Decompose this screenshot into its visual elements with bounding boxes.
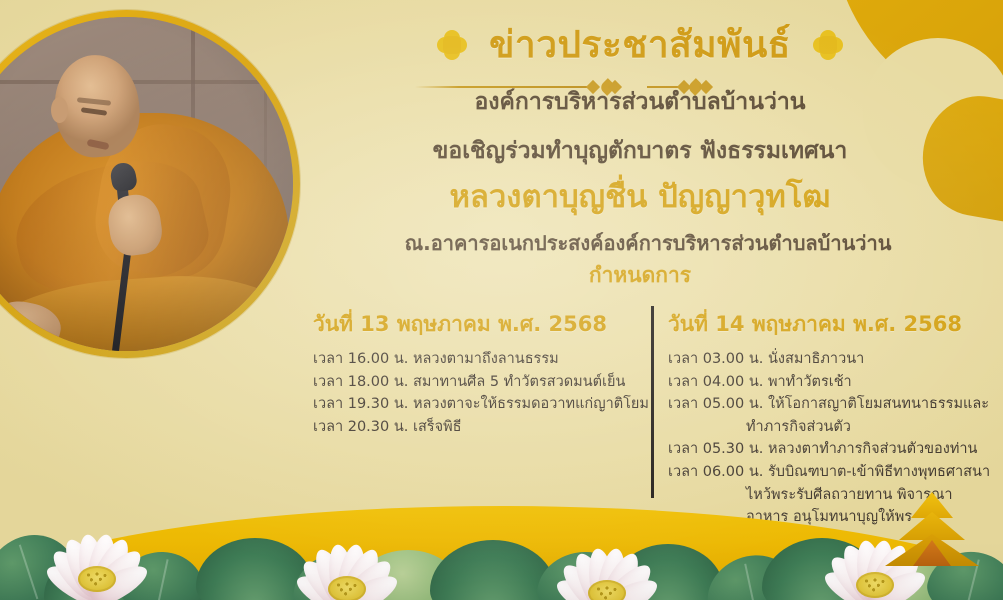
schedule-item-line: เวลา 03.00 น. นั่งสมาธิภาวนา — [668, 351, 864, 367]
lotus-flower — [538, 510, 674, 600]
schedule-item: เวลา 16.00 น. หลวงตามาถึงลานธรรม — [307, 348, 637, 371]
lotus-flower — [278, 506, 414, 600]
schedule-item-line: เวลา 19.30 น. หลวงตาจะให้ธรรมดอวาทแก่ญาต… — [313, 396, 649, 412]
schedule-column-divider — [651, 306, 654, 498]
quatrefoil-flower-icon-right — [813, 30, 843, 60]
schedule-date-1: วันที่ 13 พฤษภาคม พ.ศ. 2568 — [307, 308, 637, 341]
schedule-item-line: เวลา 18.00 น. สมาทานศีล 5 ทำวัตรสวดมนต์เ… — [313, 374, 625, 390]
quatrefoil-flower-icon-left — [437, 30, 467, 60]
page-title: ข่าวประชาสัมพันธ์ — [489, 24, 791, 65]
schedule-item: เวลา 20.30 น. เสร็จพิธี — [307, 416, 637, 439]
poster-root: ข่าวประชาสัมพันธ์ องค์การบริหารส่วนตำบลบ… — [0, 0, 1003, 600]
headline-row: ข่าวประชาสัมพันธ์ — [330, 24, 950, 65]
schedule-item-continuation: ทำภารกิจส่วนตัว — [668, 416, 1002, 439]
monk-portrait-image — [0, 17, 293, 351]
lotus-band-decoration — [0, 480, 1003, 600]
pagoda-icon — [883, 492, 979, 572]
agenda-heading: กำหนดการ — [330, 262, 950, 289]
schedule-item-line: เวลา 05.00 น. ให้โอกาสญาติโยมสนทนาธรรมแล… — [668, 396, 989, 412]
schedule-item-line: เวลา 04.00 น. พาทำวัตรเช้า — [668, 374, 852, 390]
schedule-item: เวลา 19.30 น. หลวงตาจะให้ธรรมดอวาทแก่ญาต… — [307, 393, 637, 416]
schedule-item-line: เวลา 05.30 น. หลวงตาทำภารกิจส่วนตัวของท่… — [668, 441, 977, 457]
invitation-text: ขอเชิญร่วมทำบุญตักบาตร ฟังธรรมเทศนา — [330, 137, 950, 167]
organization-name: องค์การบริหารส่วนตำบลบ้านว่าน — [330, 88, 950, 118]
schedule-item: เวลา 18.00 น. สมาทานศีล 5 ทำวัตรสวดมนต์เ… — [307, 371, 637, 394]
monk-name: หลวงตาบุญชื่น ปัญญาวุทโฒ — [330, 178, 950, 217]
schedule-item-line: เวลา 06.00 น. รับบิณฑบาต-เข้าพิธีทางพุทธ… — [668, 464, 990, 480]
lotus-flower — [28, 496, 164, 600]
schedule-item: เวลา 04.00 น. พาทำวัตรเช้า — [666, 371, 1002, 394]
schedule-item-line: เวลา 20.30 น. เสร็จพิธี — [313, 419, 461, 435]
schedule-date-2: วันที่ 14 พฤษภาคม พ.ศ. 2568 — [666, 308, 1002, 341]
schedule-item: เวลา 03.00 น. นั่งสมาธิภาวนา — [666, 348, 1002, 371]
schedule-item: เวลา 05.30 น. หลวงตาทำภารกิจส่วนตัวของท่… — [666, 438, 1002, 461]
venue-text: ณ.อาคารอเนกประสงค์องค์การบริหารส่วนตำบลบ… — [318, 230, 978, 256]
schedule-item-line: เวลา 16.00 น. หลวงตามาถึงลานธรรม — [313, 351, 559, 367]
schedule-day-1: วันที่ 13 พฤษภาคม พ.ศ. 2568 เวลา 16.00 น… — [307, 308, 637, 438]
schedule-item: เวลา 05.00 น. ให้โอกาสญาติโยมสนทนาธรรมแล… — [666, 393, 1002, 438]
